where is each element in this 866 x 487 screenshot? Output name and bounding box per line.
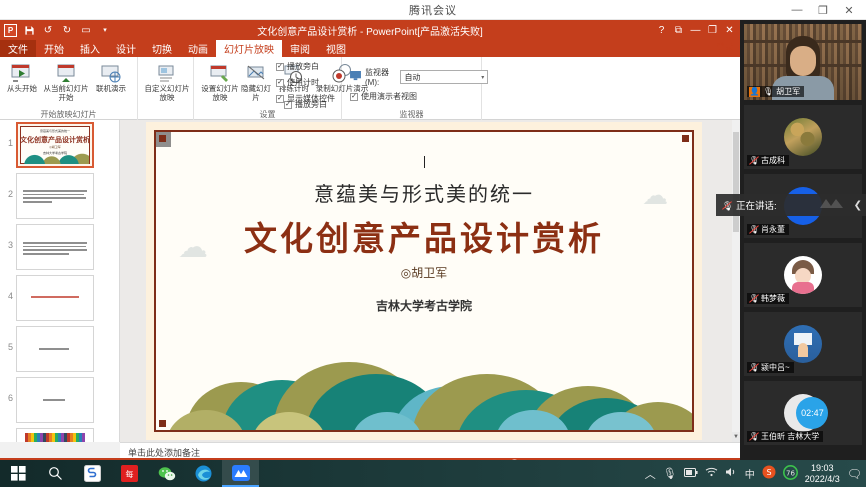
- ribbon-button-setup-slideshow[interactable]: 设置幻灯片放映: [200, 59, 240, 102]
- search-button[interactable]: [37, 460, 74, 487]
- slide-title[interactable]: 文化创意产品设计赏析: [156, 212, 692, 260]
- frame-dot-tr: [682, 135, 689, 142]
- mic-icon: 🎙: [763, 87, 773, 96]
- taskbar-app-foxit[interactable]: [74, 460, 111, 487]
- powerpoint-minimize-button[interactable]: —: [687, 21, 704, 39]
- cloud-wisp-right-icon: ☁: [642, 180, 668, 211]
- thumbnail-row-3[interactable]: 3: [0, 222, 119, 273]
- ribbon-tab-home[interactable]: 开始: [36, 40, 72, 57]
- participant-4-avatar: [784, 325, 822, 363]
- slide-thumbnail-1[interactable]: 意蕴美与形式美的统一 文化创意产品设计赏析 ◎胡卫军 吉林大学考古学院: [16, 122, 94, 168]
- thumbnail-number-2: 2: [0, 173, 16, 199]
- ribbon-tab-design[interactable]: 设计: [108, 40, 144, 57]
- checkbox-presenter-view-label: 使用演示者视图: [361, 91, 417, 102]
- thumbnail-row-1[interactable]: 1 意蕴美与形式美的统一 文化创意产品设计赏析 ◎胡卫军 吉林大学考古学院: [0, 120, 119, 171]
- meeting-window-controls: — ❐ ✕: [784, 0, 862, 20]
- ribbon-button-from-current-label: 从当前幻灯片开始: [42, 85, 90, 102]
- thumbnail-row-2[interactable]: 2: [0, 171, 119, 222]
- frame-dot-tl: [159, 135, 166, 142]
- thumbnail-number-7: 7: [0, 428, 16, 442]
- help-button[interactable]: ?: [653, 21, 670, 39]
- tencent-meeting-logo-icon: [819, 197, 845, 213]
- ribbon-tab-slideshow[interactable]: 幻灯片放映: [216, 40, 282, 57]
- speaking-banner: 🎙 正在讲话: ❮: [716, 194, 866, 216]
- ribbon-tab-insert[interactable]: 插入: [72, 40, 108, 57]
- microphone-icon[interactable]: 🎙: [663, 467, 677, 480]
- ribbon-tab-animations[interactable]: 动画: [180, 40, 216, 57]
- security-76-icon[interactable]: 76: [783, 465, 798, 483]
- ribbon-checkbox-use-timings[interactable]: ✓ 使用计时: [276, 77, 319, 88]
- slide-thumbnail-7[interactable]: [16, 428, 94, 442]
- slide-thumbnail-pane[interactable]: 1 意蕴美与形式美的统一 文化创意产品设计赏析 ◎胡卫军 吉林大学考古学院 2: [0, 120, 120, 442]
- ribbon-button-from-current[interactable]: 从当前幻灯片开始: [42, 59, 90, 102]
- ribbon-button-present-online-label: 联机演示: [90, 85, 132, 94]
- slide-subtitle[interactable]: 意蕴美与形式美的统一: [156, 178, 692, 207]
- hide-slide-icon: [238, 59, 274, 85]
- chevron-down-icon: ▾: [481, 74, 484, 81]
- ribbon-button-hide-slide[interactable]: 隐藏幻灯片: [238, 59, 274, 102]
- thumbnail-3-preview: [23, 242, 87, 257]
- cloud-wisp-left-icon: ☁: [178, 230, 208, 265]
- sogou-icon[interactable]: S: [762, 465, 776, 482]
- thumbnail-scrollbar[interactable]: [732, 120, 740, 442]
- thumbnail-4-preview: [31, 296, 79, 300]
- ribbon-button-setup-slideshow-label: 设置幻灯片放映: [200, 85, 240, 102]
- participant-1-nametag: 🎙 古成科: [747, 155, 789, 166]
- thumbnail-row-6[interactable]: 6: [0, 375, 119, 426]
- taskbar-app-wechat[interactable]: [148, 460, 185, 487]
- slide-author[interactable]: ◎胡卫军: [156, 264, 692, 281]
- thumbnail-6-preview: [43, 399, 65, 403]
- slide-thumbnail-2[interactable]: [16, 173, 94, 219]
- monitor-select[interactable]: 自动 ▾: [400, 70, 488, 84]
- taskbar-clock[interactable]: 19:03 2022/4/3: [805, 463, 840, 485]
- setup-slideshow-icon: [200, 59, 240, 85]
- custom-slideshow-icon: [144, 59, 190, 85]
- thumbnail-7-preview: [17, 429, 93, 442]
- notes-pane[interactable]: 单击此处添加备注: [120, 442, 740, 458]
- participant-1-name: 古成科: [761, 155, 785, 166]
- mic-muted-icon: 🎙: [749, 363, 758, 372]
- tencent-meeting-window: 腾讯会议 — ❐ ✕ P ↺ ↻ ▭ ▾ 文化创意产品设计赏析 - PowerP…: [0, 0, 866, 487]
- mic-muted-icon: 🎙: [722, 201, 731, 210]
- ribbon-group-start-slideshow-label: 开始放映幻灯片: [0, 109, 137, 120]
- ribbon-button-custom-slideshow[interactable]: 自定义幻灯片放映: [144, 59, 190, 102]
- ribbon-checkbox-play-narrations-2[interactable]: ✓ 播放旁白: [276, 61, 319, 72]
- meeting-maximize-button[interactable]: ❐: [810, 0, 836, 20]
- participant-0-nametag: 👤 🎙 胡卫军: [747, 86, 804, 97]
- taskbar-items: 每: [0, 460, 259, 487]
- powerpoint-restore-button[interactable]: ❐: [704, 21, 721, 39]
- thumbnail-1-preview: 意蕴美与形式美的统一 文化创意产品设计赏析 ◎胡卫军 吉林大学考古学院: [18, 124, 92, 166]
- powerpoint-document-title: 文化创意产品设计赏析 - PowerPoint[产品激活失败]: [0, 23, 740, 38]
- participant-5-nametag: 🎙 王伯昕 吉林大学: [747, 431, 823, 442]
- meeting-minimize-button[interactable]: —: [784, 0, 810, 20]
- ribbon-tab-strip: 文件 开始 插入 设计 切换 动画 幻灯片放映 审阅 视图: [0, 40, 740, 57]
- monitor-combo-row: 监视器(M): 自动 ▾: [350, 67, 488, 87]
- slide-editing-stage[interactable]: 意蕴美与形式美的统一 文化创意产品设计赏析 ◎胡卫军 吉林大学考古学院 ☁ ☁: [120, 120, 732, 442]
- present-online-icon: [90, 59, 132, 85]
- ribbon-display-options-button[interactable]: ⧉: [670, 21, 687, 39]
- mic-muted-icon: 🎙: [749, 432, 758, 441]
- taskbar-app-tencent-meeting[interactable]: [222, 460, 259, 487]
- participant-0-name: 胡卫军: [776, 86, 800, 97]
- svg-text:S: S: [766, 468, 771, 477]
- ribbon-tab-transitions[interactable]: 切换: [144, 40, 180, 57]
- powerpoint-close-button[interactable]: ✕: [721, 21, 738, 39]
- windows-taskbar: 每 ︿ 🎙 中 S: [0, 460, 866, 487]
- clock-time: 19:03: [805, 463, 840, 474]
- checkbox-presenter-view-box[interactable]: ✓: [350, 93, 358, 101]
- svg-text:每: 每: [126, 469, 134, 479]
- participants-sidebar[interactable]: 👤 🎙 胡卫军 🎙 古成科 🎙 肖永董: [740, 20, 866, 460]
- ribbon-group-monitor-label: 监视器: [342, 109, 481, 120]
- mic-muted-icon: 🎙: [749, 225, 758, 234]
- ribbon-button-custom-slideshow-label: 自定义幻灯片放映: [144, 85, 190, 102]
- thumbnail-1-subtitle: 意蕴美与形式美的统一: [18, 129, 92, 133]
- speaking-collapse-icon[interactable]: ❮: [854, 200, 866, 211]
- ribbon-tab-file[interactable]: 文件: [0, 40, 36, 57]
- mic-muted-icon: 🎙: [749, 294, 758, 303]
- meeting-title: 腾讯会议: [409, 2, 457, 18]
- participant-tile-3[interactable]: 🎙 韩梦薇: [744, 243, 862, 307]
- slide-thumbnail-5[interactable]: [16, 326, 94, 372]
- checkbox-narrations-label: 播放旁白: [287, 61, 319, 72]
- shared-screen-region: P ↺ ↻ ▭ ▾ 文化创意产品设计赏析 - PowerPoint[产品激活失败…: [0, 20, 740, 460]
- thumbnail-scroll-down-button[interactable]: ▼: [732, 432, 740, 442]
- thumbnail-1-title: 文化创意产品设计赏析: [18, 135, 92, 145]
- participant-tile-4[interactable]: 🎙 颍中吕~: [744, 312, 862, 376]
- checkbox-show-media-controls-label: 显示媒体控件: [287, 93, 335, 104]
- clock-date: 2022/4/3: [805, 474, 840, 485]
- checkbox-use-timings-label: 使用计时: [287, 77, 319, 88]
- slideshow-from-current-icon: [42, 59, 90, 85]
- slide-thumbnail-6[interactable]: [16, 377, 94, 423]
- ribbon-group-custom-slideshow: 自定义幻灯片放映: [138, 57, 194, 120]
- slide-thumbnail-4[interactable]: [16, 275, 94, 321]
- ribbon-checkbox-show-media-controls[interactable]: ✓ 显示媒体控件: [276, 93, 335, 104]
- thumbnail-5-preview: [39, 348, 69, 352]
- monitor-icon: [350, 71, 361, 83]
- participant-3-avatar: [784, 256, 822, 294]
- checkbox-use-timings-box[interactable]: ✓: [276, 79, 284, 87]
- participant-1-avatar: [784, 118, 822, 156]
- thumbnail-number-1: 1: [0, 122, 16, 148]
- slideshow-from-start-icon: [2, 59, 42, 85]
- sign-in-link[interactable]: 登录: [716, 40, 734, 53]
- participant-2-name: 肖永董: [761, 224, 785, 235]
- participant-tile-1[interactable]: 🎙 古成科: [744, 105, 862, 169]
- ribbon-group-monitor: 监视器(M): 自动 ▾ ✓ 使用演示者视图 监视器: [342, 57, 482, 120]
- checkbox-show-media-controls-box[interactable]: ✓: [276, 95, 284, 103]
- participant-4-nametag: 🎙 颍中吕~: [747, 362, 794, 373]
- slide-thumbnail-3[interactable]: [16, 224, 94, 270]
- thumbnail-1-author: ◎胡卫军: [18, 145, 92, 149]
- thumbnail-scrollbar-thumb: [733, 132, 739, 232]
- participant-tile-5[interactable]: 02:47 🎙 王伯昕 吉林大学: [744, 381, 862, 445]
- taskbar-app-red[interactable]: 每: [111, 460, 148, 487]
- ribbon-button-hide-slide-label: 隐藏幻灯片: [238, 85, 274, 102]
- participant-tile-0[interactable]: 👤 🎙 胡卫军: [744, 24, 862, 100]
- checkbox-narrations-box[interactable]: ✓: [276, 63, 284, 71]
- participant-2-nametag: 🎙 肖永董: [747, 224, 789, 235]
- thumbnail-row-7[interactable]: 7: [0, 426, 119, 442]
- notification-icon[interactable]: 🗨: [847, 467, 862, 481]
- thumbnail-number-3: 3: [0, 224, 16, 250]
- participant-3-name: 韩梦薇: [761, 293, 785, 304]
- participant-5-timer-badge: 02:47: [796, 397, 828, 429]
- ribbon: 从头开始 从当前幻灯片开始 联机演示 开始放映幻灯片: [0, 57, 740, 120]
- host-badge-icon: 👤: [749, 87, 760, 97]
- ribbon-tab-review[interactable]: 审阅: [282, 40, 318, 57]
- monitor-combo-label: 监视器(M):: [365, 67, 396, 87]
- meeting-titlebar: 腾讯会议 — ❐ ✕: [0, 0, 866, 20]
- powerpoint-titlebar: P ↺ ↻ ▭ ▾ 文化创意产品设计赏析 - PowerPoint[产品激活失败…: [0, 20, 740, 40]
- svg-text:76: 76: [786, 469, 795, 477]
- thumbnail-row-5[interactable]: 5: [0, 324, 119, 375]
- slide-content-frame: 意蕴美与形式美的统一 文化创意产品设计赏析 ◎胡卫军 吉林大学考古学院 ☁ ☁: [154, 130, 694, 432]
- participant-5-name: 王伯昕 吉林大学: [761, 431, 819, 442]
- thumbnail-row-4[interactable]: 4: [0, 273, 119, 324]
- thumbnail-2-preview: [23, 190, 87, 205]
- ribbon-button-from-beginning[interactable]: 从头开始: [2, 59, 42, 94]
- current-slide[interactable]: 意蕴美与形式美的统一 文化创意产品设计赏析 ◎胡卫军 吉林大学考古学院 ☁ ☁: [146, 122, 702, 440]
- chevron-up-icon[interactable]: ︿: [645, 466, 656, 482]
- start-button[interactable]: [0, 460, 37, 487]
- ribbon-button-present-online[interactable]: 联机演示: [90, 59, 132, 94]
- ribbon-tab-view[interactable]: 视图: [318, 40, 354, 57]
- participant-4-name: 颍中吕~: [761, 362, 790, 373]
- thumbnail-number-4: 4: [0, 275, 16, 301]
- meeting-close-button[interactable]: ✕: [836, 0, 862, 20]
- ribbon-button-from-beginning-label: 从头开始: [2, 85, 42, 94]
- slide-organization[interactable]: 吉林大学考古学院: [156, 297, 692, 314]
- battery-icon[interactable]: [684, 468, 698, 480]
- taskbar-app-edge[interactable]: [185, 460, 222, 487]
- ribbon-checkbox-use-presenter-view[interactable]: ✓ 使用演示者视图: [350, 91, 417, 102]
- system-tray: ︿ 🎙 中 S 76 19:03 2022/4/3 🗨: [645, 460, 862, 487]
- participant-3-nametag: 🎙 韩梦薇: [747, 293, 789, 304]
- powerpoint-window-controls: ? ⧉ — ❐ ✕: [653, 20, 738, 40]
- speaking-label: 正在讲话:: [736, 198, 777, 212]
- monitor-select-value: 自动: [404, 72, 420, 83]
- ime-chinese-icon[interactable]: 中: [745, 466, 755, 481]
- volume-icon[interactable]: [725, 467, 738, 480]
- thumbnail-number-6: 6: [0, 377, 16, 403]
- wifi-icon[interactable]: [705, 467, 718, 480]
- text-cursor: [424, 156, 425, 168]
- ribbon-group-start-slideshow: 从头开始 从当前幻灯片开始 联机演示 开始放映幻灯片: [0, 57, 138, 120]
- thumbnail-number-5: 5: [0, 326, 16, 352]
- participant-5-timer: 02:47: [801, 408, 824, 418]
- decorative-cloud-motif: [156, 352, 692, 430]
- mic-muted-icon: 🎙: [749, 156, 758, 165]
